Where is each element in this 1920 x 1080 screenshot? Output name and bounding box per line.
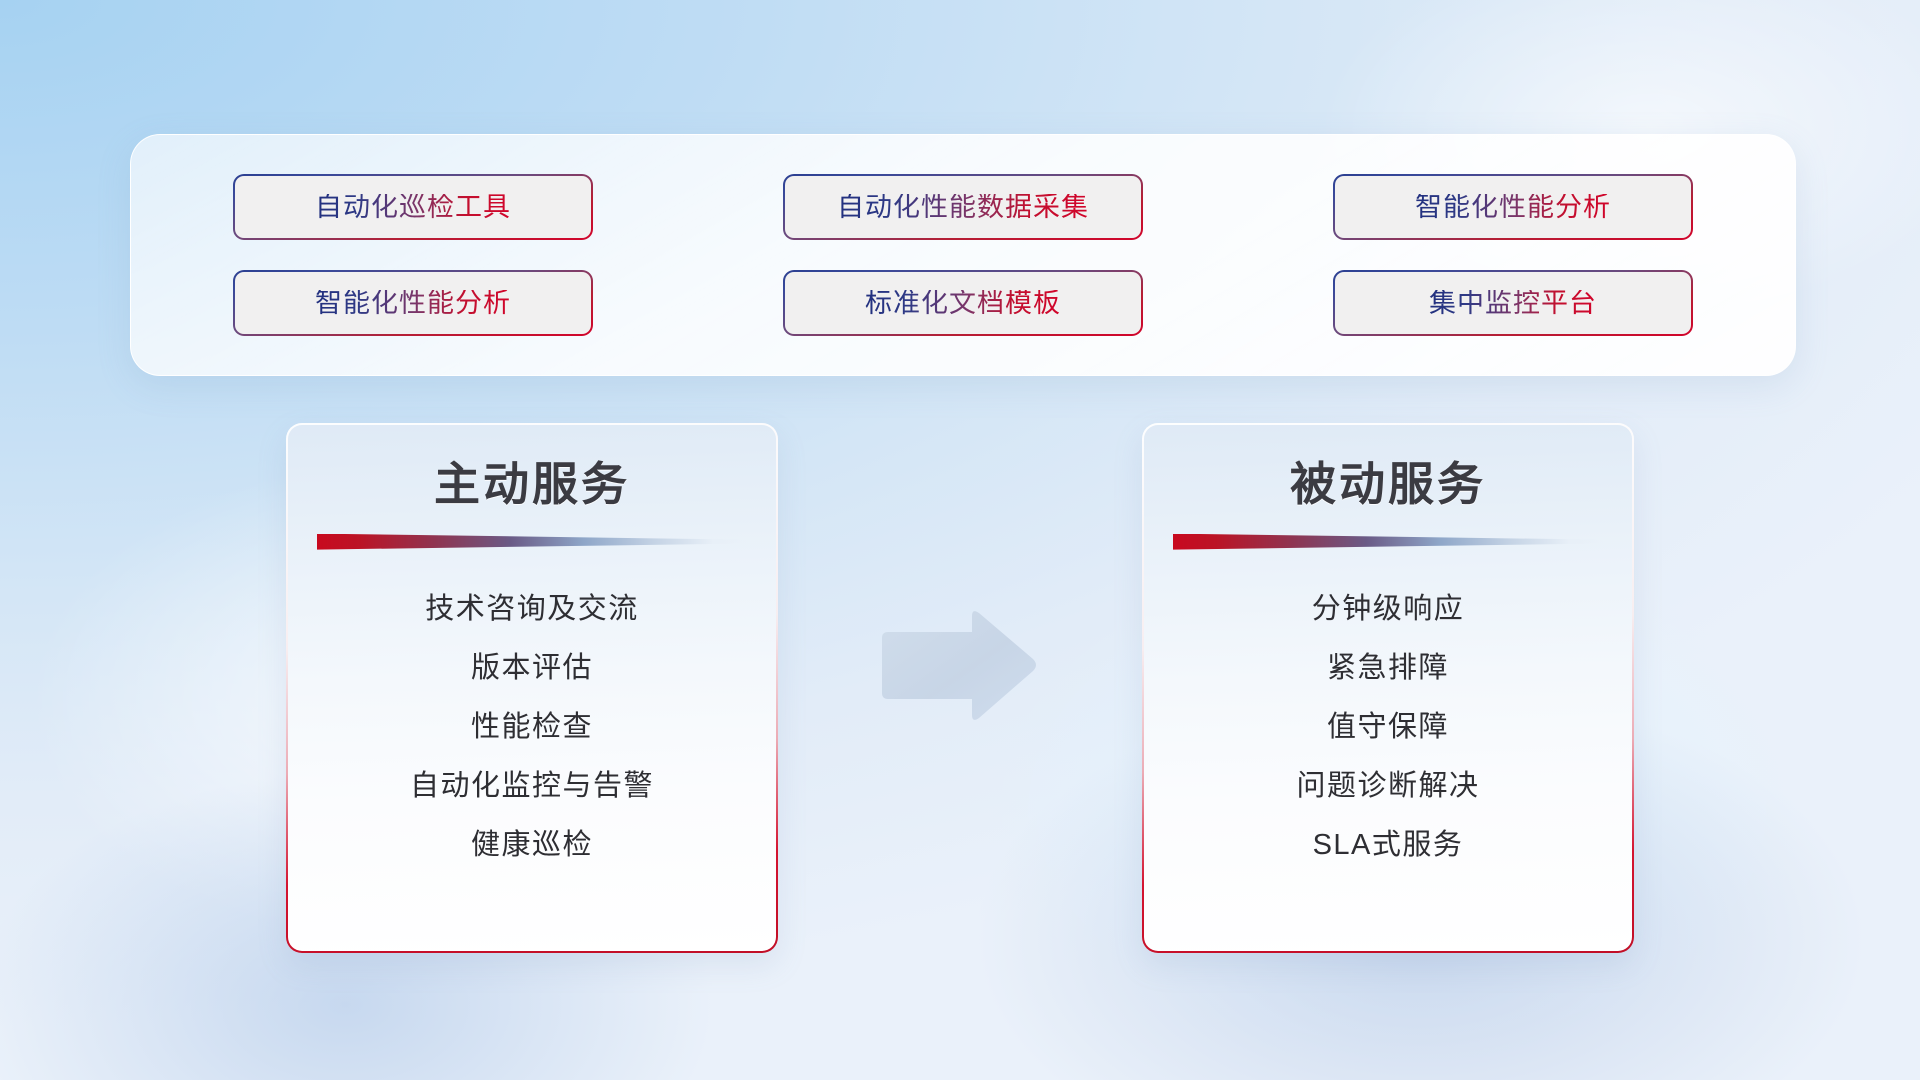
capability-pill-surface: 智能化性能分析: [1335, 176, 1691, 238]
capability-panel: 自动化巡检工具 自动化性能数据采集 智能化性能分析 智能化性能分析 标准化文档模…: [130, 134, 1796, 376]
capability-pill-grid: 自动化巡检工具 自动化性能数据采集 智能化性能分析 智能化性能分析 标准化文档模…: [233, 174, 1693, 336]
list-item: 问题诊断解决: [1296, 757, 1479, 816]
capability-pill[interactable]: 集中监控平台: [1333, 270, 1693, 336]
service-card-divider: [1173, 534, 1603, 550]
capability-pill-label: 标准化文档模板: [865, 290, 1061, 317]
capability-pill[interactable]: 智能化性能分析: [1333, 174, 1693, 240]
capability-pill-surface: 标准化文档模板: [785, 272, 1141, 334]
list-item: 紧急排障: [1327, 639, 1449, 698]
service-card-title: 主动服务: [434, 459, 630, 510]
list-item: 分钟级响应: [1312, 580, 1465, 639]
capability-pill[interactable]: 标准化文档模板: [783, 270, 1143, 336]
capability-pill-surface: 自动化性能数据采集: [785, 176, 1141, 238]
service-card-list: 技术咨询及交流 版本评估 性能检查 自动化监控与告警 健康巡检: [288, 580, 776, 875]
right-arrow-icon: [876, 606, 1040, 726]
divider-bar: [317, 534, 747, 550]
service-card-reactive: 被动服务 分钟级响应 紧急排障 值守保障 问题诊断解决 SLA式服务: [1142, 423, 1634, 953]
divider-bar: [1173, 534, 1603, 550]
capability-pill[interactable]: 自动化性能数据采集: [783, 174, 1143, 240]
capability-pill[interactable]: 智能化性能分析: [233, 270, 593, 336]
capability-pill[interactable]: 自动化巡检工具: [233, 174, 593, 240]
list-item: 性能检查: [471, 698, 593, 757]
list-item: 健康巡检: [471, 816, 593, 875]
capability-pill-label: 自动化巡检工具: [315, 194, 511, 221]
capability-pill-label: 集中监控平台: [1429, 290, 1597, 317]
list-item: 技术咨询及交流: [425, 580, 639, 639]
capability-pill-surface: 智能化性能分析: [235, 272, 591, 334]
capability-pill-label: 智能化性能分析: [315, 290, 511, 317]
service-card-surface: 主动服务 技术咨询及交流 版本评估 性能检查 自动化监控与告警 健康巡检: [288, 425, 776, 951]
list-item: SLA式服务: [1313, 816, 1464, 875]
capability-pill-surface: 自动化巡检工具: [235, 176, 591, 238]
list-item: 自动化监控与告警: [410, 757, 654, 816]
list-item: 值守保障: [1327, 698, 1449, 757]
capability-pill-label: 自动化性能数据采集: [837, 194, 1089, 221]
capability-pill-surface: 集中监控平台: [1335, 272, 1691, 334]
service-card-list: 分钟级响应 紧急排障 值守保障 问题诊断解决 SLA式服务: [1144, 580, 1632, 875]
list-item: 版本评估: [471, 639, 593, 698]
flow-arrow: [876, 606, 1040, 726]
service-card-proactive: 主动服务 技术咨询及交流 版本评估 性能检查 自动化监控与告警 健康巡检: [286, 423, 778, 953]
capability-pill-label: 智能化性能分析: [1415, 194, 1611, 221]
service-card-divider: [317, 534, 747, 550]
service-card-title: 被动服务: [1290, 459, 1486, 510]
service-card-surface: 被动服务 分钟级响应 紧急排障 值守保障 问题诊断解决 SLA式服务: [1144, 425, 1632, 951]
